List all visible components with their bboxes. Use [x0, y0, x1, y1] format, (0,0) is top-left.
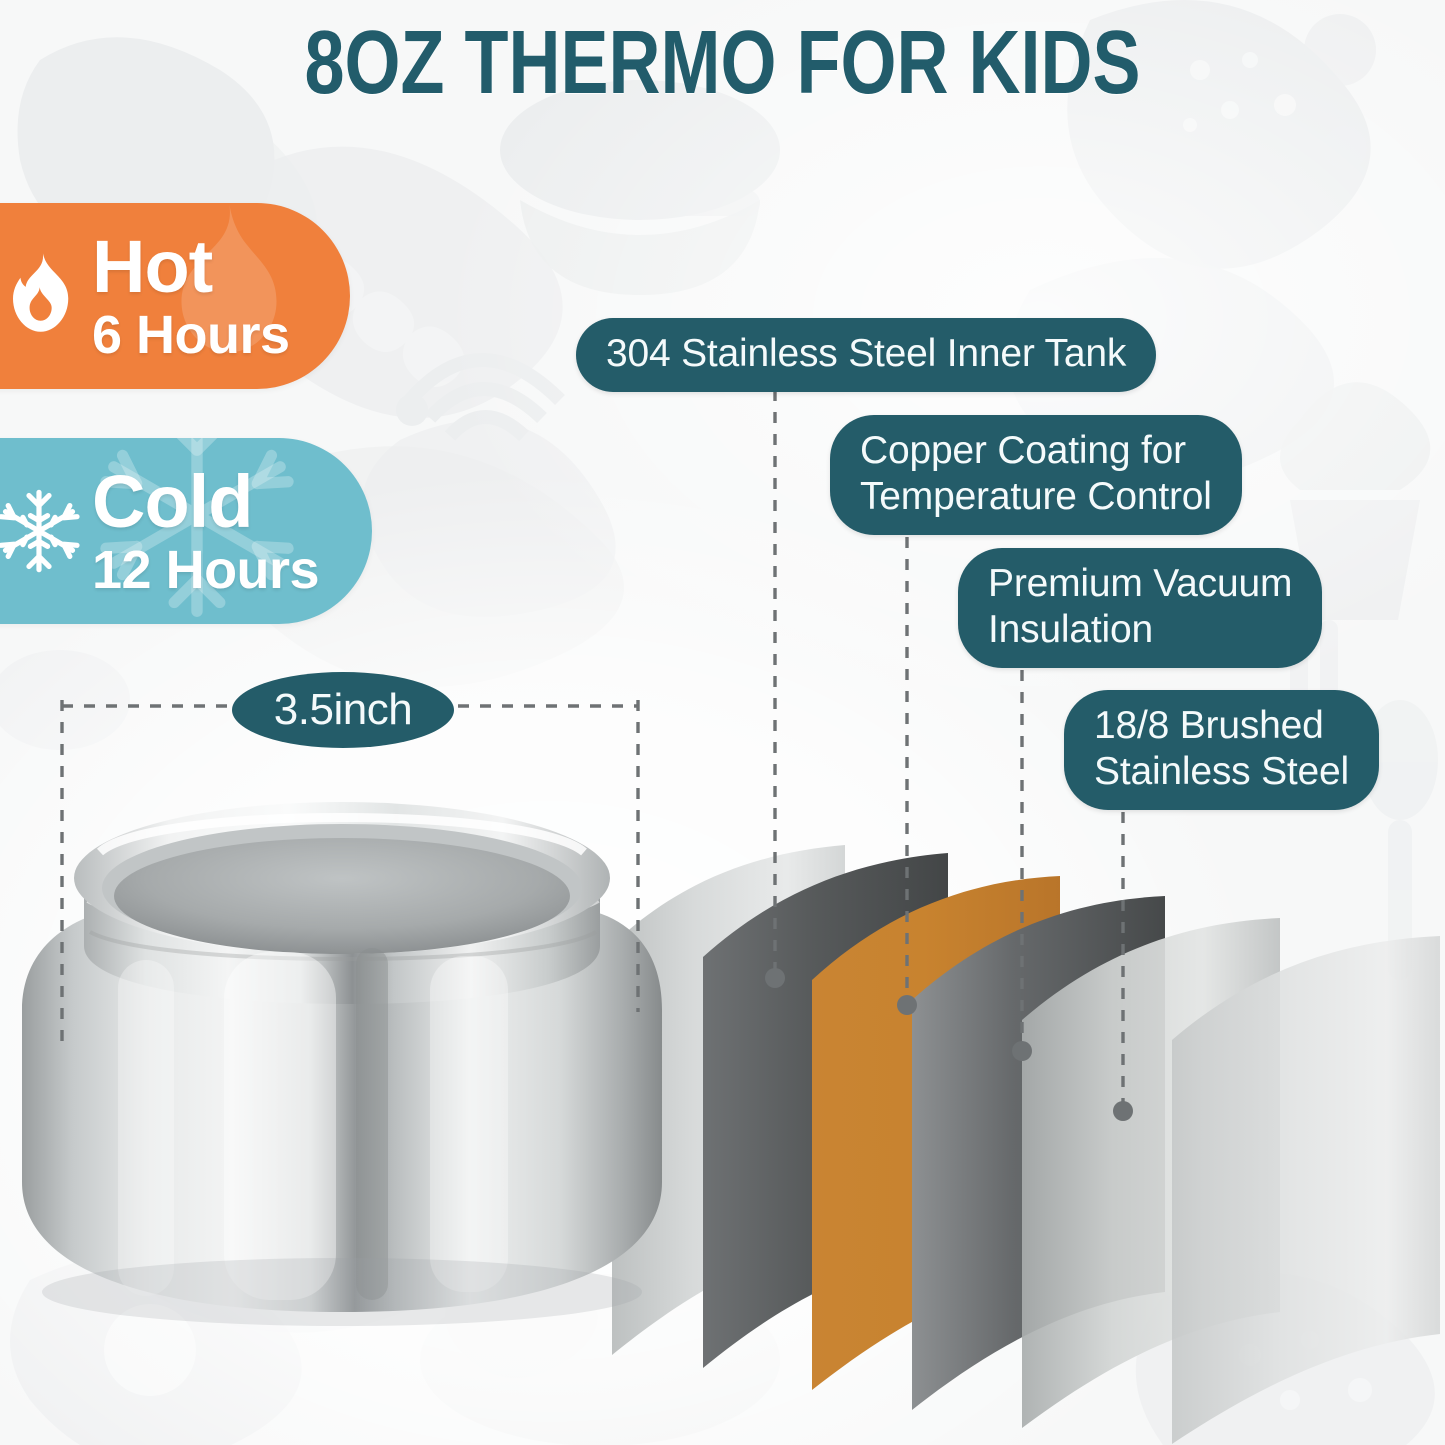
badge-cold-subtitle: 12 Hours — [92, 543, 319, 597]
jar-highlight-right — [430, 956, 508, 1292]
product-infographic: 8OZ THERMO FOR KIDS Hot 6 Hours — [0, 0, 1445, 1445]
snowflake-icon — [0, 488, 92, 574]
jar-highlight-dark — [356, 948, 388, 1300]
jar-inner-cavity — [114, 838, 570, 954]
badge-hot-title: Hot — [92, 230, 290, 304]
page-title: 8OZ THERMO FOR KIDS — [145, 18, 1301, 110]
layer-panel-copper — [812, 876, 1060, 1390]
jar-highlight-wide — [224, 952, 336, 1300]
layer-panel-vacuum — [912, 896, 1165, 1410]
jar-highlight-left — [118, 960, 174, 1296]
leader-dot-copper-coating — [897, 995, 917, 1015]
callout-copper-coating: Copper Coating for Temperature Control — [830, 415, 1242, 535]
jar-thread-groove-1 — [88, 900, 598, 927]
jar-neck — [84, 812, 600, 1004]
badge-hot-retention: Hot 6 Hours — [0, 203, 350, 389]
badge-hot-subtitle: 6 Hours — [92, 308, 290, 362]
callout-brushed-steel: 18/8 Brushed Stainless Steel — [1064, 690, 1379, 810]
callout-vacuum-insulation: Premium Vacuum Insulation — [958, 548, 1322, 668]
leader-dot-inner-tank — [765, 968, 785, 988]
dimension-label-text: 3.5inch — [274, 685, 412, 735]
jar-rim-highlight — [100, 818, 584, 853]
jar-bottom-shade — [42, 1258, 642, 1326]
layer-panel-brushed — [1022, 918, 1280, 1428]
leader-dot-vacuum-insulation — [1012, 1041, 1032, 1061]
jar-body — [22, 890, 662, 1312]
jar-inner-wall — [102, 824, 582, 952]
jar-outer-rim — [74, 802, 610, 954]
layer-panel-inner-tank — [703, 853, 948, 1368]
badge-cold-retention: Cold 12 Hours — [0, 438, 372, 624]
badge-hot-text: Hot 6 Hours — [92, 230, 290, 362]
jar-thread-groove-2 — [90, 932, 596, 959]
leader-dot-brushed-steel — [1113, 1101, 1133, 1121]
layer-panel-outer-shell — [1172, 936, 1440, 1444]
badge-cold-text: Cold 12 Hours — [92, 465, 319, 597]
flame-icon — [0, 250, 92, 342]
layer-panel-outer-silver — [612, 845, 845, 1355]
dimension-label-width: 3.5inch — [232, 672, 454, 748]
badge-cold-title: Cold — [92, 465, 319, 539]
callout-inner-tank: 304 Stainless Steel Inner Tank — [576, 318, 1156, 392]
